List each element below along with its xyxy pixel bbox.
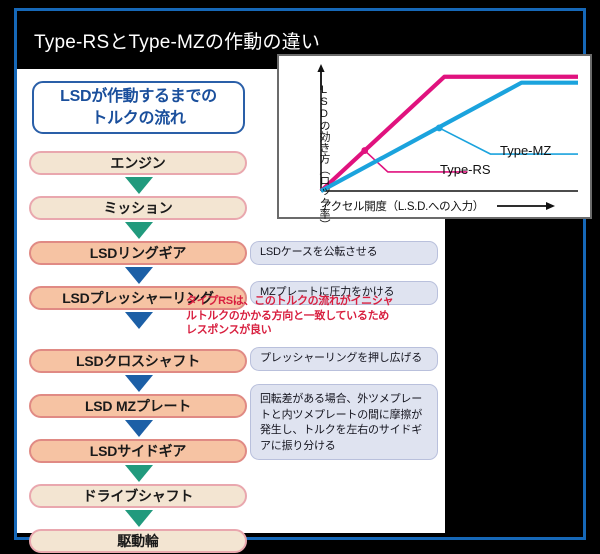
flow-arrow-3-icon bbox=[125, 267, 153, 284]
flow-step-lsd-ring-gear[interactable]: LSDリングギア bbox=[29, 241, 247, 265]
red-annotation: タイプRSは、このトルクの流れがイニシャ ルトルクのかかる方向と一致しているため… bbox=[186, 294, 431, 338]
flow-arrow-8-icon bbox=[125, 510, 153, 527]
flow-step-engine[interactable]: エンジン bbox=[29, 151, 247, 175]
chart-x-axis-label: アクセル開度（L.S.D.への入力） bbox=[320, 198, 484, 214]
flow-arrow-7-icon bbox=[125, 465, 153, 482]
x-axis-arrow-icon bbox=[546, 202, 555, 210]
chart-branch-point-type-rs bbox=[361, 147, 368, 154]
chart-legend-type-mz: Type-MZ bbox=[500, 143, 551, 158]
note-mz-plate: 回転差がある場合、外ツメプレー トと内ツメプレートの間に摩擦が 発生し、トルクを… bbox=[250, 384, 438, 460]
note-mz-plate-line-3: 発生し、トルクを左右のサイドギ bbox=[260, 423, 428, 439]
flow-arrow-4-icon bbox=[125, 312, 153, 329]
note-mz-plate-line-2: トと内ツメプレートの間に摩擦が bbox=[260, 408, 428, 424]
flow-step-cross-shaft[interactable]: LSDクロスシャフト bbox=[29, 349, 247, 373]
red-annotation-line-3: レスポンスが良い bbox=[186, 323, 431, 338]
chart-legend-type-rs: Type-RS bbox=[440, 162, 491, 177]
flow-heading-line-2: トルクの流れ bbox=[91, 108, 185, 129]
flow-arrow-2-icon bbox=[125, 222, 153, 239]
note-mz-plate-line-4: アに振り分ける bbox=[260, 439, 428, 455]
flow-step-side-gear[interactable]: LSDサイドギア bbox=[29, 439, 247, 463]
red-annotation-line-2: ルトルクのかかる方向と一致しているため bbox=[186, 309, 431, 324]
chart-branch-point-type-mz bbox=[436, 125, 443, 132]
flow-step-mission[interactable]: ミッション bbox=[29, 196, 247, 220]
note-ring-gear: LSDケースを公転させる bbox=[250, 241, 438, 265]
page-title: Type-RSとType-MZの作動の違い bbox=[17, 27, 320, 54]
note-mz-plate-line-1: 回転差がある場合、外ツメプレー bbox=[260, 392, 428, 408]
note-cross-shaft: プレッシャーリングを押し広げる bbox=[250, 347, 438, 371]
flow-heading-box: LSDが作動するまでの トルクの流れ bbox=[32, 81, 245, 134]
flow-step-drive-wheel[interactable]: 駆動輪 bbox=[29, 529, 247, 553]
flow-arrow-6-icon bbox=[125, 420, 153, 437]
red-annotation-line-1: タイプRSは、このトルクの流れがイニシャ bbox=[186, 294, 431, 309]
flow-arrow-5-icon bbox=[125, 375, 153, 392]
flow-heading-line-1: LSDが作動するまでの bbox=[60, 86, 217, 107]
lsd-lock-rate-chart: LSDの効き方（ロック率） アクセル開度（L.S.D.への入力） Type-RS… bbox=[277, 54, 592, 219]
flow-step-drive-shaft[interactable]: ドライブシャフト bbox=[29, 484, 247, 508]
flow-arrow-1-icon bbox=[125, 177, 153, 194]
flow-step-mz-plate[interactable]: LSD MZプレート bbox=[29, 394, 247, 418]
